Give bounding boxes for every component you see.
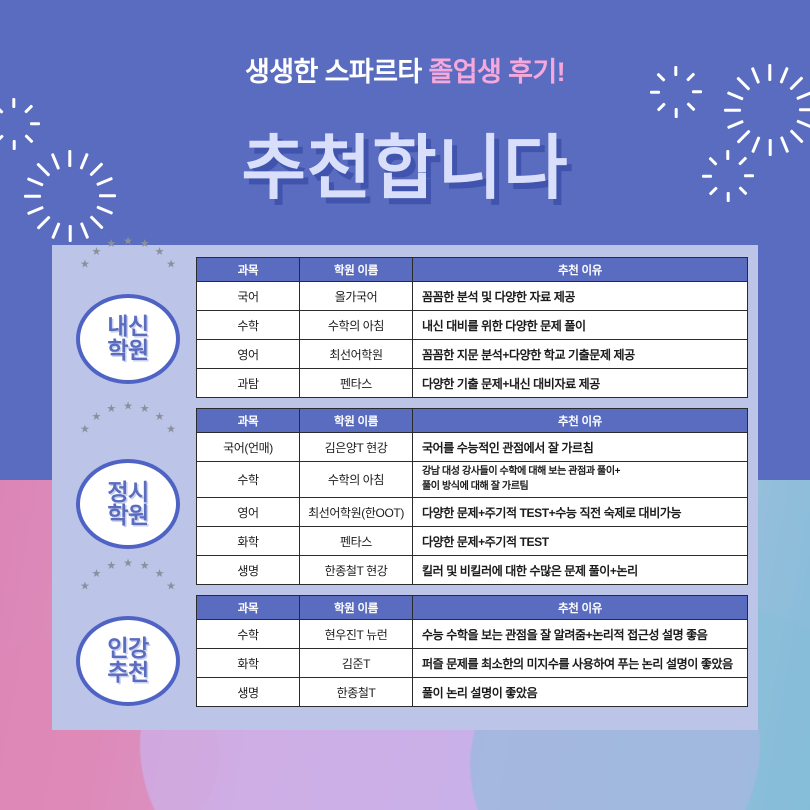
cell-academy: 한종철T 현강 xyxy=(300,556,413,585)
badge-정시학원: ★★★★★★★정시학원 xyxy=(76,445,180,549)
cell-reason: 다양한 문제+주기적 TEST xyxy=(413,527,748,556)
cell-reason: 풀이 논리 설명이 좋았음 xyxy=(413,678,748,707)
badge-column: ★★★★★★★내신학원★★★★★★★정시학원★★★★★★★인강추천 xyxy=(60,257,196,718)
badge-label-line2: 학원 xyxy=(107,504,148,528)
badge-label-line2: 추천 xyxy=(107,661,148,685)
table-row: 영어최선어학원(한OOT)다양한 문제+주기적 TEST+수능 직전 숙제로 대… xyxy=(197,498,748,527)
cell-academy: 올가국어 xyxy=(300,282,413,311)
star-icon: ★ xyxy=(92,413,102,424)
cell-academy: 최선어학원(한OOT) xyxy=(300,498,413,527)
star-icon: ★ xyxy=(92,569,102,580)
badge-label-line1: 인강 xyxy=(107,637,148,661)
sunburst-ray xyxy=(799,109,810,112)
badge-circle: 내신학원 xyxy=(76,294,180,384)
badge-slot: ★★★★★★★인강추천 xyxy=(60,590,196,718)
table-section: 과목학원 이름추천 이유국어올가국어꼼꼼한 분석 및 다양한 자료 제공수학수학… xyxy=(196,257,748,398)
sunburst-ray xyxy=(13,98,16,108)
badge-인강추천: ★★★★★★★인강추천 xyxy=(76,602,180,706)
table-row: 국어올가국어꼼꼼한 분석 및 다양한 자료 제공 xyxy=(197,282,748,311)
cell-reason: 퍼즐 문제를 최소한의 미지수를 사용하여 푸는 논리 설명이 좋았음 xyxy=(413,649,748,678)
star-icon: ★ xyxy=(106,405,116,416)
cell-subject: 수학 xyxy=(197,462,300,498)
star-icon: ★ xyxy=(166,259,176,270)
table-row: 생명한종철T 현강킬러 및 비킬러에 대한 수많은 문제 풀이+논리 xyxy=(197,556,748,585)
star-icon: ★ xyxy=(155,569,165,580)
star-icon: ★ xyxy=(155,413,165,424)
star-icon: ★ xyxy=(155,247,165,258)
column-header-1: 학원 이름 xyxy=(300,258,413,282)
cell-subject: 수학 xyxy=(197,620,300,649)
recommendation-table: 과목학원 이름추천 이유국어올가국어꼼꼼한 분석 및 다양한 자료 제공수학수학… xyxy=(196,257,748,398)
cell-subject: 국어(언매) xyxy=(197,433,300,462)
sunburst-ray xyxy=(686,102,695,111)
star-icon: ★ xyxy=(123,236,133,247)
cell-subject: 과탐 xyxy=(197,369,300,398)
table-row: 수학수학의 아침내신 대비를 위한 다양한 문제 풀이 xyxy=(197,311,748,340)
cell-academy: 한종철T xyxy=(300,678,413,707)
badge-label-line1: 정시 xyxy=(107,481,148,505)
table-row: 국어(언매)김은양T 현강국어를 수능적인 관점에서 잘 가르침 xyxy=(197,433,748,462)
poster-subtitle: 생생한 스파르타 졸업생 후기! xyxy=(0,50,810,89)
sunburst-ray xyxy=(650,91,660,94)
cell-reason: 꼼꼼한 분석 및 다양한 자료 제공 xyxy=(413,282,748,311)
table-row: 화학펜타스다양한 문제+주기적 TEST xyxy=(197,527,748,556)
tables-column: 과목학원 이름추천 이유국어올가국어꼼꼼한 분석 및 다양한 자료 제공수학수학… xyxy=(196,257,748,718)
badge-circle: 정시학원 xyxy=(76,459,180,549)
cell-academy: 수학의 아침 xyxy=(300,462,413,498)
star-icon: ★ xyxy=(166,425,176,436)
table-row: 수학수학의 아침강남 대성 강사들이 수학에 대해 보는 관점과 풀이+풀이 방… xyxy=(197,462,748,498)
cell-subject: 화학 xyxy=(197,649,300,678)
column-header-0: 과목 xyxy=(197,409,300,433)
sunburst-ray xyxy=(796,91,810,100)
poster-title: 추천합니다 xyxy=(0,112,810,213)
star-icon: ★ xyxy=(123,559,133,570)
sunburst-ray xyxy=(37,216,51,230)
sunburst-ray xyxy=(692,91,702,94)
cell-reason: 내신 대비를 위한 다양한 문제 풀이 xyxy=(413,311,748,340)
badge-label-line1: 내신 xyxy=(107,315,148,339)
cell-reason: 강남 대성 강사들이 수학에 대해 보는 관점과 풀이+풀이 방식에 대해 잘 … xyxy=(413,462,748,498)
table-header-row: 과목학원 이름추천 이유 xyxy=(197,596,748,620)
table-row: 과탐펜타스다양한 기출 문제+내신 대비자료 제공 xyxy=(197,369,748,398)
cell-academy: 수학의 아침 xyxy=(300,311,413,340)
star-icon: ★ xyxy=(92,247,102,258)
column-header-2: 추천 이유 xyxy=(413,409,748,433)
cell-subject: 영어 xyxy=(197,340,300,369)
column-header-2: 추천 이유 xyxy=(413,258,748,282)
cell-reason: 다양한 기출 문제+내신 대비자료 제공 xyxy=(413,369,748,398)
star-icon: ★ xyxy=(80,259,90,270)
star-icon: ★ xyxy=(140,239,150,250)
table-row: 수학현우진T 뉴런수능 수학을 보는 관점을 잘 알려줌+논리적 접근성 설명 … xyxy=(197,620,748,649)
sunburst-ray xyxy=(51,222,60,239)
cell-subject: 생명 xyxy=(197,556,300,585)
star-icon: ★ xyxy=(166,582,176,593)
content-card: ★★★★★★★내신학원★★★★★★★정시학원★★★★★★★인강추천 과목학원 이… xyxy=(52,245,758,730)
cell-academy: 최선어학원 xyxy=(300,340,413,369)
column-header-2: 추천 이유 xyxy=(413,596,748,620)
star-icon: ★ xyxy=(80,425,90,436)
subtitle-plain: 생생한 스파르타 xyxy=(245,57,428,87)
badge-slot: ★★★★★★★내신학원 xyxy=(60,259,196,405)
recommendation-table: 과목학원 이름추천 이유수학현우진T 뉴런수능 수학을 보는 관점을 잘 알려줌… xyxy=(196,595,748,707)
cell-subject: 화학 xyxy=(197,527,300,556)
star-icon: ★ xyxy=(106,239,116,250)
cell-subject: 영어 xyxy=(197,498,300,527)
sunburst-ray xyxy=(69,225,72,242)
recommendation-table: 과목학원 이름추천 이유국어(언매)김은양T 현강국어를 수능적인 관점에서 잘… xyxy=(196,408,748,585)
star-icon: ★ xyxy=(140,561,150,572)
sunburst-ray xyxy=(724,109,741,112)
table-section: 과목학원 이름추천 이유수학현우진T 뉴런수능 수학을 보는 관점을 잘 알려줌… xyxy=(196,595,748,707)
cell-academy: 펜타스 xyxy=(300,369,413,398)
cell-reason: 국어를 수능적인 관점에서 잘 가르침 xyxy=(413,433,748,462)
cell-subject: 국어 xyxy=(197,282,300,311)
table-header-row: 과목학원 이름추천 이유 xyxy=(197,409,748,433)
cell-academy: 김준T xyxy=(300,649,413,678)
table-row: 영어최선어학원꼼꼼한 지문 분석+다양한 학교 기출문제 제공 xyxy=(197,340,748,369)
sunburst-ray xyxy=(727,91,744,100)
column-header-0: 과목 xyxy=(197,596,300,620)
sunburst-ray xyxy=(90,216,104,230)
cell-reason: 다양한 문제+주기적 TEST+수능 직전 숙제로 대비가능 xyxy=(413,498,748,527)
sunburst-ray xyxy=(657,102,666,111)
star-icon: ★ xyxy=(140,405,150,416)
cell-academy: 김은양T 현강 xyxy=(300,433,413,462)
cell-academy: 현우진T 뉴런 xyxy=(300,620,413,649)
cell-reason: 꼼꼼한 지문 분석+다양한 학교 기출문제 제공 xyxy=(413,340,748,369)
star-icon: ★ xyxy=(80,582,90,593)
column-header-0: 과목 xyxy=(197,258,300,282)
cell-subject: 생명 xyxy=(197,678,300,707)
badge-내신학원: ★★★★★★★내신학원 xyxy=(76,280,180,384)
cell-academy: 펜타스 xyxy=(300,527,413,556)
sunburst-ray xyxy=(80,222,89,239)
star-icon: ★ xyxy=(123,402,133,413)
cell-subject: 수학 xyxy=(197,311,300,340)
star-icon: ★ xyxy=(106,561,116,572)
cell-reason: 킬러 및 비킬러에 대한 수많은 문제 풀이+논리 xyxy=(413,556,748,585)
column-header-1: 학원 이름 xyxy=(300,409,413,433)
cell-reason: 수능 수학을 보는 관점을 잘 알려줌+논리적 접근성 설명 좋음 xyxy=(413,620,748,649)
table-section: 과목학원 이름추천 이유국어(언매)김은양T 현강국어를 수능적인 관점에서 잘… xyxy=(196,408,748,585)
badge-circle: 인강추천 xyxy=(76,616,180,706)
table-row: 화학김준T퍼즐 문제를 최소한의 미지수를 사용하여 푸는 논리 설명이 좋았음 xyxy=(197,649,748,678)
column-header-1: 학원 이름 xyxy=(300,596,413,620)
poster-root: 생생한 스파르타 졸업생 후기! 추천합니다 ★★★★★★★내신학원★★★★★★… xyxy=(0,0,810,810)
subtitle-accent: 졸업생 후기! xyxy=(428,57,565,87)
badge-label-line2: 학원 xyxy=(107,339,148,363)
table-row: 생명한종철T풀이 논리 설명이 좋았음 xyxy=(197,678,748,707)
table-header-row: 과목학원 이름추천 이유 xyxy=(197,258,748,282)
